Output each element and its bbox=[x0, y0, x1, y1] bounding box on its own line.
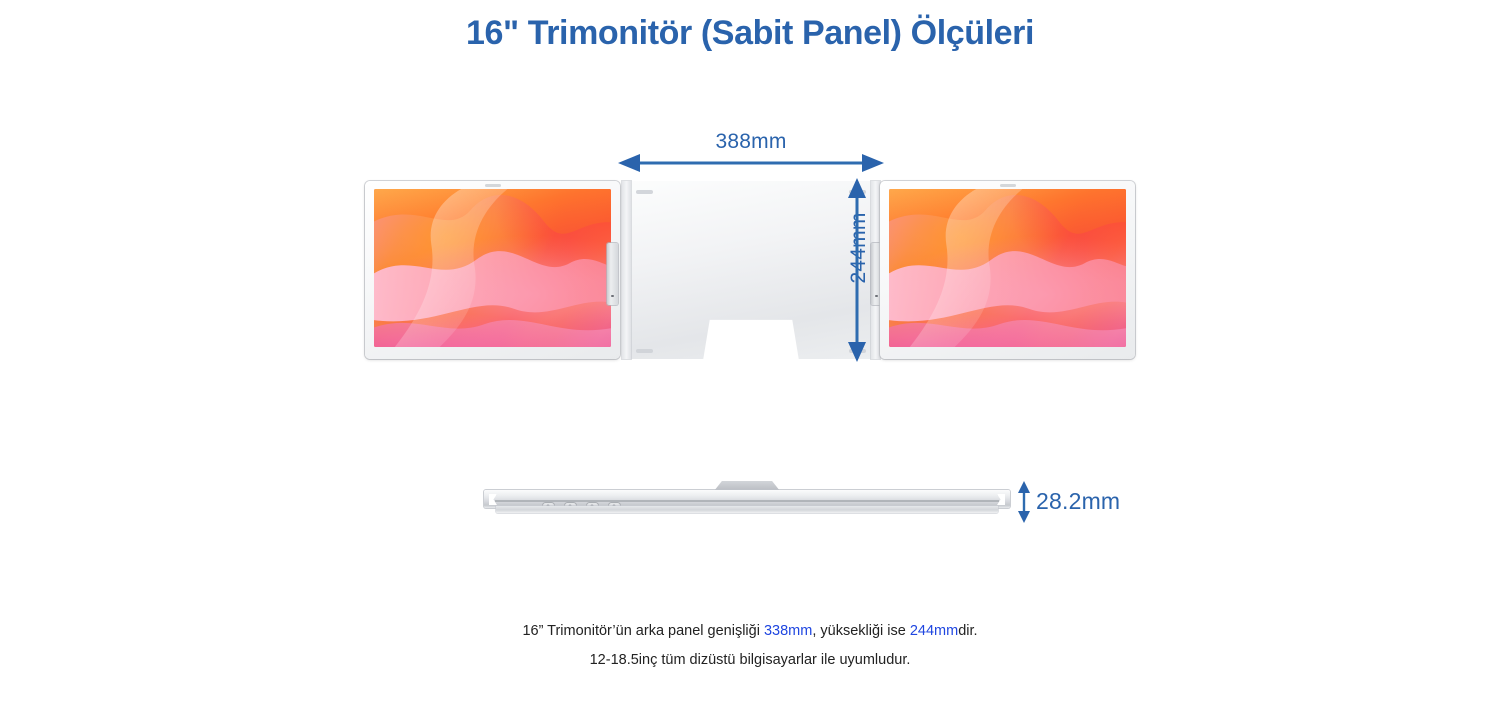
camera-dot-icon bbox=[485, 184, 501, 187]
caption-l1-part3: dir. bbox=[958, 623, 977, 639]
product-dimension-diagram: 388mm 244mm 28.2mm bbox=[0, 0, 1500, 707]
camera-dot-icon bbox=[1000, 184, 1016, 187]
right-monitor-screen bbox=[889, 189, 1126, 347]
center-back-panel bbox=[622, 181, 880, 359]
width-dimension-arrow bbox=[618, 152, 884, 174]
back-panel-body bbox=[622, 181, 880, 359]
caption-line-2: 12-18.5inç tüm dizüstü bilgisayarlar ile… bbox=[0, 646, 1500, 675]
depth-dimension-arrow bbox=[1016, 481, 1032, 523]
back-panel-rail-left bbox=[622, 181, 631, 359]
side-view-underlip bbox=[496, 506, 999, 513]
wallpaper-swirl-overlay bbox=[889, 189, 1126, 347]
left-hinge bbox=[607, 243, 618, 305]
right-monitor-panel bbox=[880, 181, 1135, 359]
caption-l1-value-width: 338mm bbox=[764, 623, 812, 639]
back-panel-tab-top-left bbox=[636, 190, 653, 194]
left-monitor-screen bbox=[374, 189, 611, 347]
left-monitor-panel bbox=[365, 181, 620, 359]
caption-l1-part1: 16” Trimonitör’ün arka panel genişliği bbox=[522, 623, 764, 639]
caption-line-1: 16” Trimonitör’ün arka panel genişliği 3… bbox=[0, 617, 1500, 646]
width-dimension-label: 388mm bbox=[622, 130, 880, 154]
height-dimension-arrow bbox=[846, 178, 868, 362]
back-panel-tab-bottom-left bbox=[636, 349, 653, 353]
caption-l1-part2: , yüksekliği ise bbox=[812, 623, 910, 639]
depth-dimension-label: 28.2mm bbox=[1036, 488, 1120, 515]
caption-block: 16” Trimonitör’ün arka panel genişliği 3… bbox=[0, 617, 1500, 675]
caption-l1-value-height: 244mm bbox=[910, 623, 958, 639]
wallpaper-swirl-overlay bbox=[374, 189, 611, 347]
side-profile-view bbox=[484, 481, 1010, 523]
